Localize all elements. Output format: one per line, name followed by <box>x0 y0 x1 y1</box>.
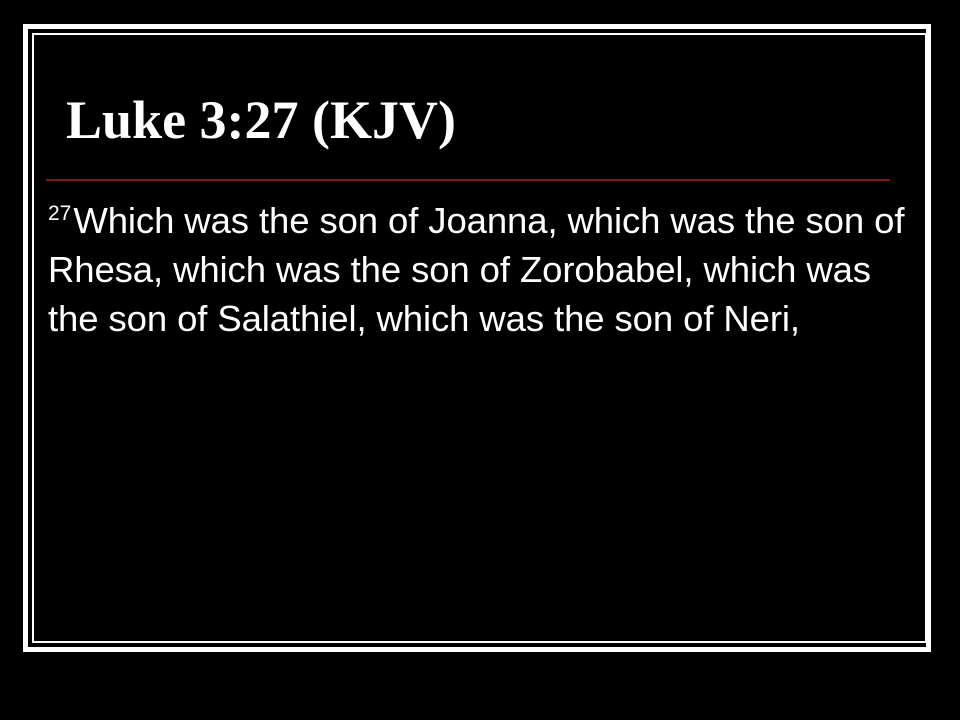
verse-text: Which was the son of Joanna, which was t… <box>48 200 904 339</box>
verse-body: 27Which was the son of Joanna, which was… <box>48 196 908 343</box>
scripture-slide: Luke 3:27 (KJV) 27Which was the son of J… <box>0 0 960 720</box>
slide-content-area: Luke 3:27 (KJV) 27Which was the son of J… <box>46 48 914 628</box>
page-title: Luke 3:27 (KJV) <box>66 92 456 148</box>
title-divider-rule <box>46 179 890 181</box>
verse-number: 27 <box>48 202 73 225</box>
